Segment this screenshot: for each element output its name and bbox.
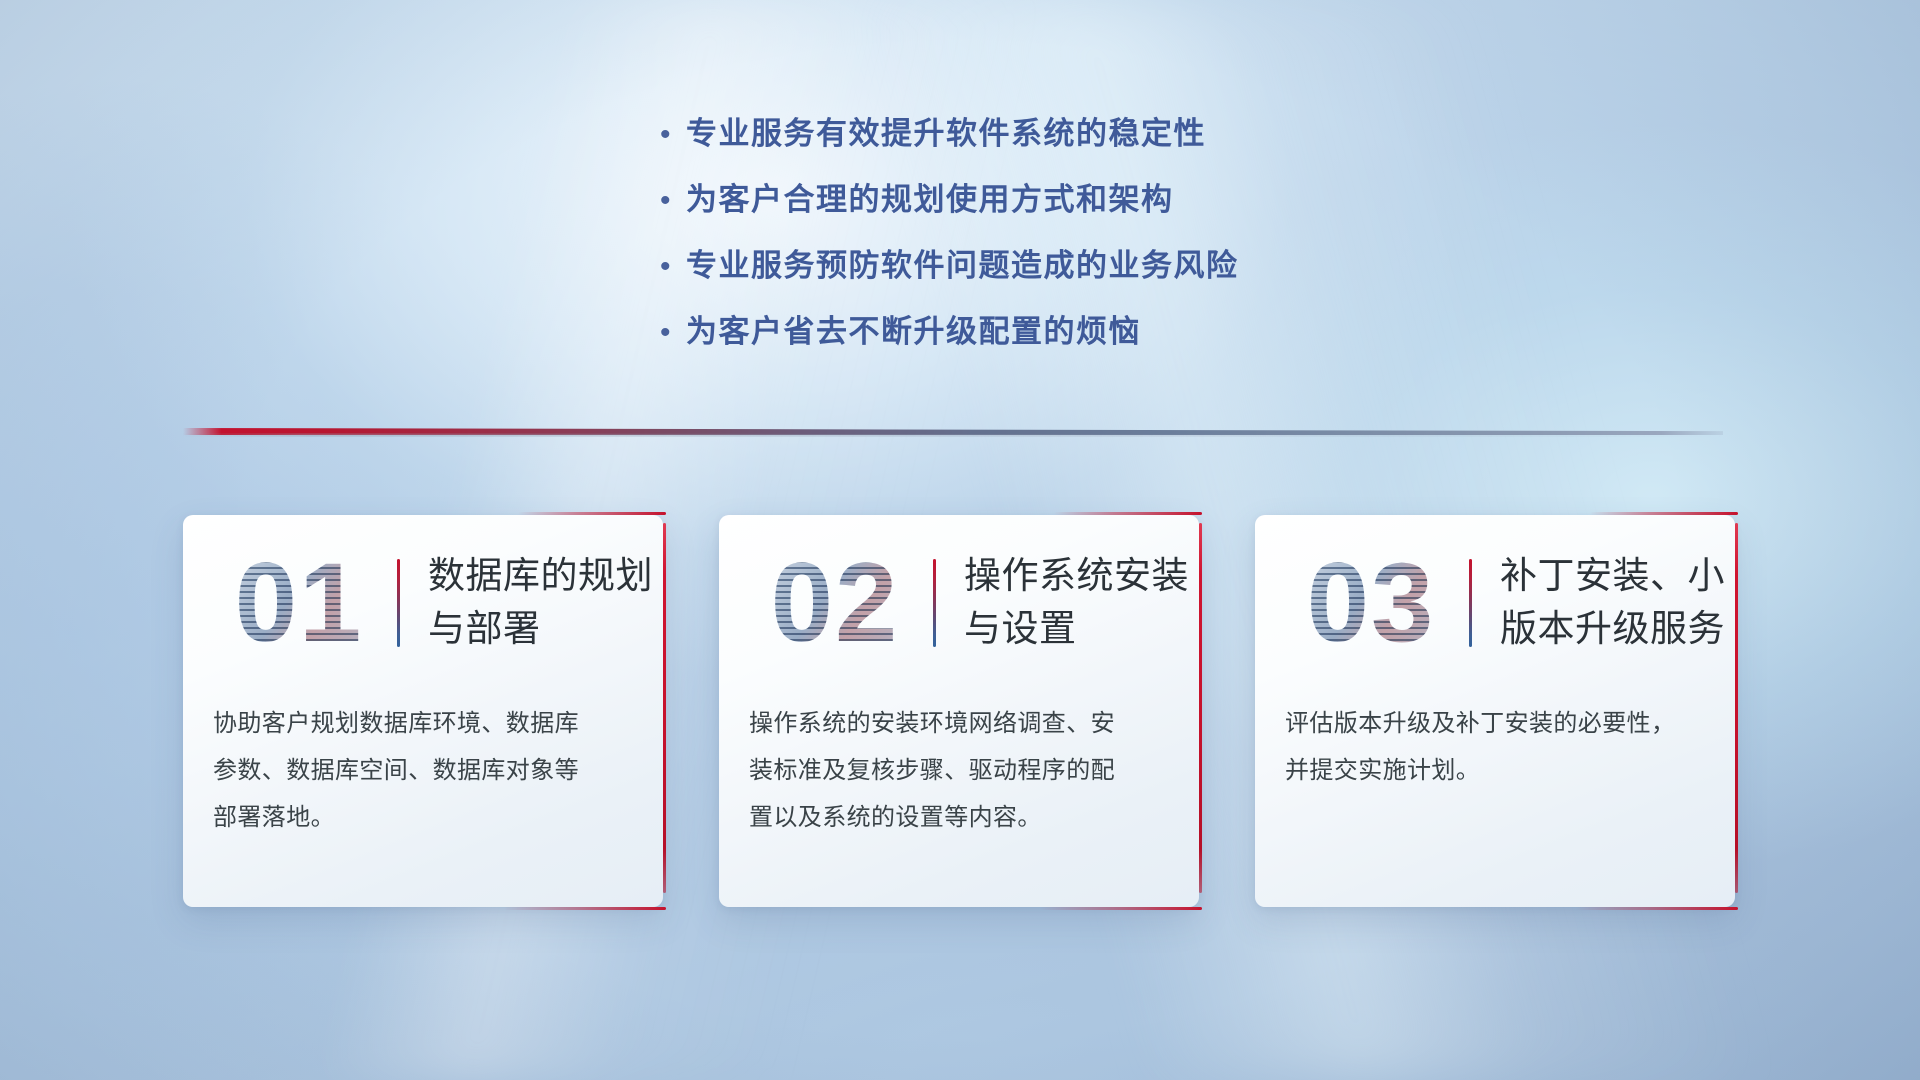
card-header: 01 数据库的规划 与部署 <box>183 515 663 691</box>
card-header: 03 补丁安装、小 版本升级服务 <box>1255 515 1735 691</box>
bullet-dot-icon: • <box>660 318 686 348</box>
card-title: 数据库的规划 与部署 <box>428 550 663 655</box>
service-card[interactable]: 01 数据库的规划 与部署 协助客户规划数据库环境、数据库 参数、数据库空间、数… <box>183 515 663 907</box>
card-number-watermark: 01 <box>201 543 397 663</box>
bullet-item-text: 为客户省去不断升级配置的烦恼 <box>686 306 1141 351</box>
card-accent-right-edge <box>1199 523 1202 893</box>
bullet-item: • 为客户合理的规划使用方式和架构 <box>660 174 1420 240</box>
card-accent-right-edge <box>1735 523 1738 893</box>
card-accent-bottom-edge <box>1576 907 1738 910</box>
service-card[interactable]: 03 补丁安装、小 版本升级服务 评估版本升级及补丁安装的必要性， 并提交实施计… <box>1255 515 1735 907</box>
card-header: 02 操作系统安装 与设置 <box>719 515 1199 691</box>
bullet-item-text: 专业服务有效提升软件系统的稳定性 <box>686 108 1206 153</box>
bullet-dot-icon: • <box>660 120 686 150</box>
card-title: 操作系统安装 与设置 <box>964 550 1199 655</box>
card-title-divider-bar <box>933 559 936 647</box>
card-accent-right-edge <box>663 523 666 893</box>
slide-canvas: • 专业服务有效提升软件系统的稳定性 • 为客户合理的规划使用方式和架构 • 专… <box>0 0 1920 1080</box>
card-number-watermark: 03 <box>1273 543 1469 663</box>
card-title-divider-bar <box>1469 559 1472 647</box>
section-divider-rule <box>183 428 1723 438</box>
card-title: 补丁安装、小 版本升级服务 <box>1500 550 1735 655</box>
card-body-text: 协助客户规划数据库环境、数据库 参数、数据库空间、数据库对象等 部署落地。 <box>183 691 663 841</box>
bullet-item-text: 为客户合理的规划使用方式和架构 <box>686 174 1174 219</box>
bullet-item-text: 专业服务预防软件问题造成的业务风险 <box>686 240 1239 285</box>
bullet-item: • 专业服务有效提升软件系统的稳定性 <box>660 108 1420 174</box>
card-title-divider-bar <box>397 559 400 647</box>
benefits-bullet-list: • 专业服务有效提升软件系统的稳定性 • 为客户合理的规划使用方式和架构 • 专… <box>660 108 1420 372</box>
service-card[interactable]: 02 操作系统安装 与设置 操作系统的安装环境网络调查、安 装标准及复核步骤、驱… <box>719 515 1199 907</box>
card-body-text: 评估版本升级及补丁安装的必要性， 并提交实施计划。 <box>1255 691 1735 795</box>
card-body-text: 操作系统的安装环境网络调查、安 装标准及复核步骤、驱动程序的配 置以及系统的设置… <box>719 691 1199 841</box>
bullet-item: • 专业服务预防软件问题造成的业务风险 <box>660 240 1420 306</box>
card-number-watermark: 02 <box>737 543 933 663</box>
card-accent-bottom-edge <box>504 907 666 910</box>
card-accent-bottom-edge <box>1040 907 1202 910</box>
bullet-item: • 为客户省去不断升级配置的烦恼 <box>660 306 1420 372</box>
bullet-dot-icon: • <box>660 252 686 282</box>
bullet-dot-icon: • <box>660 186 686 216</box>
service-card-group: 01 数据库的规划 与部署 协助客户规划数据库环境、数据库 参数、数据库空间、数… <box>183 515 1737 907</box>
